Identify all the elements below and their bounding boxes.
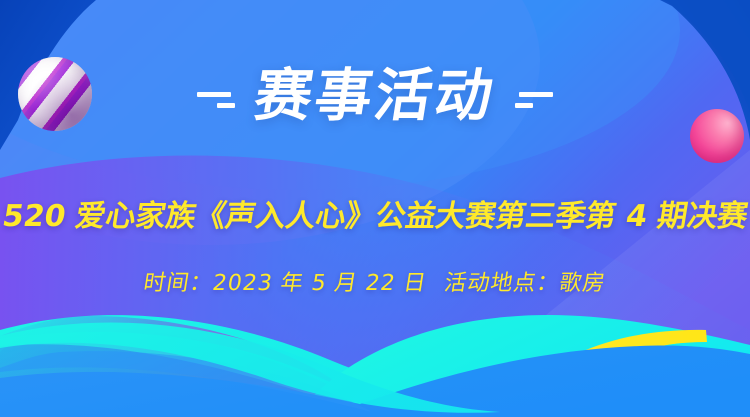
banner-meta: 时间：2023 年 5 月 22 日活动地点：歌房 bbox=[0, 265, 750, 297]
headline-row: 赛事活动 bbox=[0, 68, 750, 125]
banner-content: 赛事活动 520 爱心家族《声入人心》公益大赛第三季第 4 期决赛 时间：202… bbox=[0, 0, 750, 417]
meta-place-label: 活动地点： bbox=[443, 271, 562, 296]
banner-headline: 赛事活动 bbox=[250, 68, 499, 125]
event-banner: 赛事活动 520 爱心家族《声入人心》公益大赛第三季第 4 期决赛 时间：202… bbox=[0, 0, 750, 417]
meta-place-value: 歌房 bbox=[558, 271, 608, 296]
meta-time-value: 2023 年 5 月 22 日 bbox=[211, 271, 429, 296]
banner-subtitle: 520 爱心家族《声入人心》公益大赛第三季第 4 期决赛 bbox=[0, 200, 750, 235]
meta-time-label: 时间： bbox=[142, 271, 215, 296]
decorative-dash-left-icon bbox=[197, 76, 241, 118]
decorative-dash-right-icon bbox=[509, 76, 553, 118]
